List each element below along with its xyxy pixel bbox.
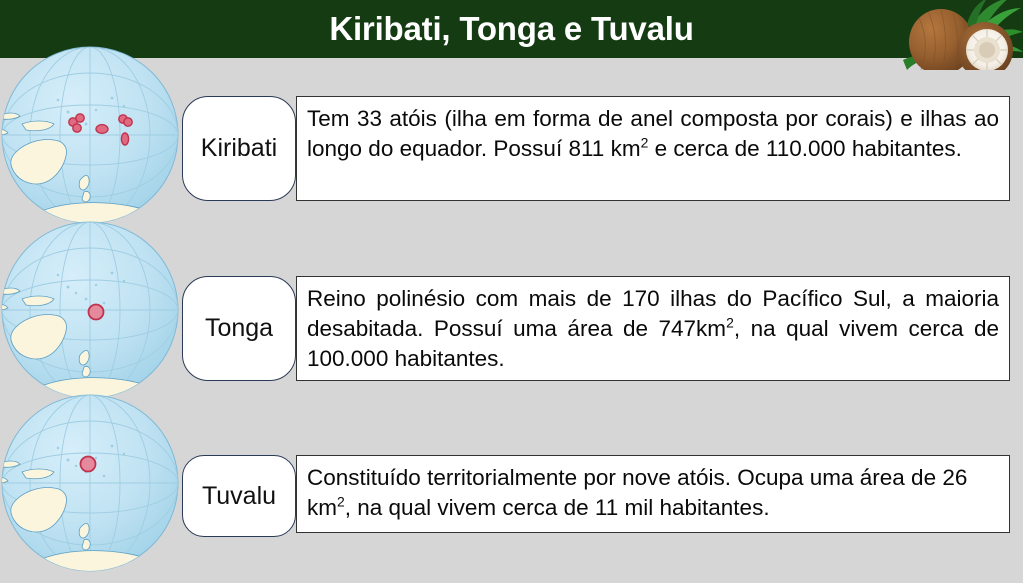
country-description-box-tuvalu: Constituído territorialmente por nove at… xyxy=(296,455,1010,533)
country-description-box-kiribati: Tem 33 atóis (ilha em forma de anel comp… xyxy=(296,96,1010,201)
desc-superscript: 2 xyxy=(337,494,345,510)
country-description-tonga: Reino polinésio com mais de 170 ilhas do… xyxy=(307,284,999,374)
country-row-tuvalu: Tuvalu Constituído territorialmente por … xyxy=(0,455,1023,537)
country-description-box-tonga: Reino polinésio com mais de 170 ilhas do… xyxy=(296,276,1010,381)
page-title: Kiribati, Tonga e Tuvalu xyxy=(0,0,1023,58)
country-label-box-tonga: Tonga xyxy=(182,276,296,381)
country-description-kiribati: Tem 33 atóis (ilha em forma de anel comp… xyxy=(307,104,999,164)
country-description-tuvalu: Constituído territorialmente por nove at… xyxy=(307,463,999,523)
country-label-box-kiribati: Kiribati xyxy=(182,96,296,201)
desc-text-after: e cerca de 110.000 habitantes. xyxy=(648,136,962,161)
country-label-box-tuvalu: Tuvalu xyxy=(182,455,296,537)
coconut-icon xyxy=(893,0,1023,70)
country-label-tonga: Tonga xyxy=(205,314,273,343)
desc-text-after: , na qual vivem cerca de 11 mil habitant… xyxy=(345,495,770,520)
country-row-kiribati: Kiribati Tem 33 atóis (ilha em forma de … xyxy=(0,96,1023,201)
country-label-kiribati: Kiribati xyxy=(201,134,277,163)
country-label-tuvalu: Tuvalu xyxy=(202,482,276,511)
country-row-tonga: Tonga Reino polinésio com mais de 170 il… xyxy=(0,276,1023,381)
desc-superscript: 2 xyxy=(726,315,734,331)
